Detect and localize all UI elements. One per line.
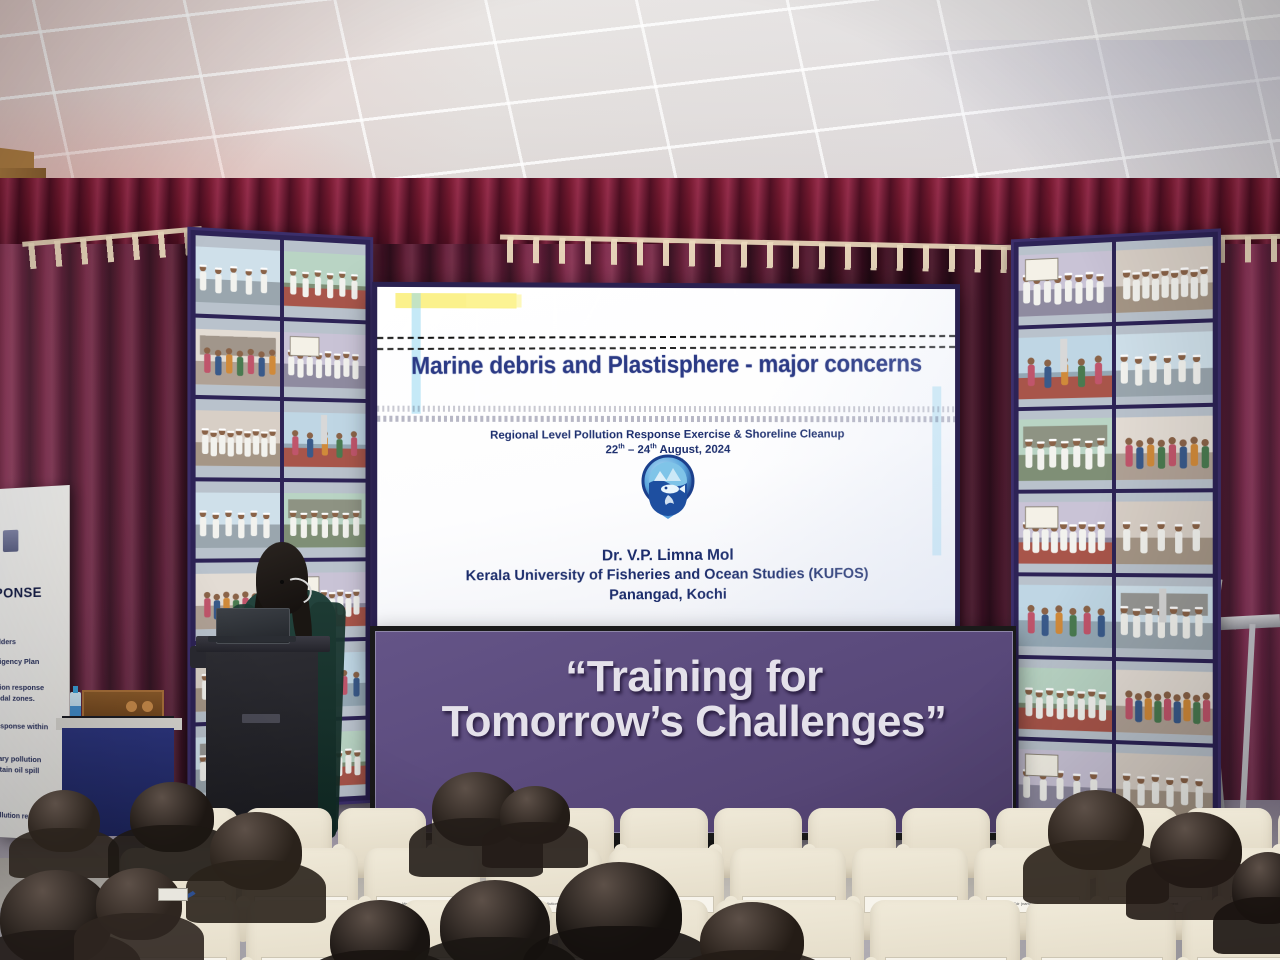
slogan-line-2: Tomorrow’s Challenges” (376, 699, 1012, 744)
board-photo (284, 401, 366, 478)
ceiling (0, 0, 1280, 205)
podium-plate (242, 714, 280, 723)
slide-presenter-block: Dr. V.P. Limna Mol Kerala University of … (377, 544, 955, 606)
slide-dashed-rule-1 (377, 335, 955, 339)
slide-title: Marine debris and Plastisphere - major c… (377, 350, 955, 381)
mic-tip (280, 580, 284, 584)
right-photo-display-board (1011, 228, 1221, 837)
rollup-line-0: take holders (0, 636, 70, 646)
board-photo (1116, 407, 1213, 489)
rollup-line-2: – pollution response (0, 683, 70, 693)
board-photo (196, 317, 280, 397)
presenter-location: Panangad, Kochi (377, 584, 955, 607)
rollup-heading-1: ESPONSE (0, 583, 70, 601)
attendee-badge (158, 888, 188, 901)
board-photo (1019, 326, 1112, 408)
board-photo (1019, 658, 1112, 740)
audience-seat: Lt Cdr (name) Coast Guard (870, 900, 1020, 960)
rollup-line-1: or Contigency Plan (0, 657, 70, 666)
board-photo (284, 240, 366, 320)
board-photo (1019, 576, 1112, 656)
board-photo (1019, 409, 1112, 489)
kufos-emblem-icon (640, 453, 696, 519)
slide-highlight-yellow-2 (466, 294, 521, 307)
audience-head (210, 812, 302, 890)
slide-artifact-line-1 (377, 406, 955, 413)
projection-screen: Marine debris and Plastisphere - major c… (377, 287, 955, 632)
slogan-line-1: “Training for (376, 654, 1012, 699)
board-photo (1116, 661, 1213, 744)
projection-screen-frame: Marine debris and Plastisphere - major c… (372, 282, 960, 637)
training-slogan: “Training for Tomorrow’s Challenges” (376, 654, 1012, 745)
audience-head (28, 790, 100, 852)
board-photo (196, 399, 280, 478)
board-photo (284, 321, 366, 400)
podium (206, 640, 318, 836)
laptop-base (208, 636, 296, 642)
screenshot-root: Marine debris and Plastisphere - major c… (0, 0, 1280, 960)
audience-head (500, 786, 570, 844)
board-photo (1019, 242, 1112, 325)
audience-head (1150, 812, 1242, 888)
rollup-banner: ESPONSE AR take holders or Contigency Pl… (0, 485, 70, 841)
presenter-affiliation: Kerala University of Fisheries and Ocean… (377, 565, 955, 588)
audience-head (130, 782, 214, 852)
slide-artifact-line-2 (377, 416, 955, 423)
board-photo (1116, 577, 1213, 659)
rollup-logo-icon (3, 530, 18, 552)
board-photo (196, 235, 280, 316)
mixer-knob-1 (126, 701, 137, 712)
rollup-heading-2: AR (0, 608, 70, 625)
audience-head (556, 862, 682, 960)
board-photo (1116, 492, 1213, 573)
mixer-knob-2 (142, 701, 153, 712)
rollup-line-6: t to contain oil spill (0, 764, 70, 778)
board-photo (1116, 322, 1213, 405)
board-photo (1019, 493, 1112, 573)
rollup-line-3: l inter-tidal zones. (0, 693, 70, 704)
audience-head (1048, 790, 1144, 870)
board-photo (1116, 237, 1213, 322)
